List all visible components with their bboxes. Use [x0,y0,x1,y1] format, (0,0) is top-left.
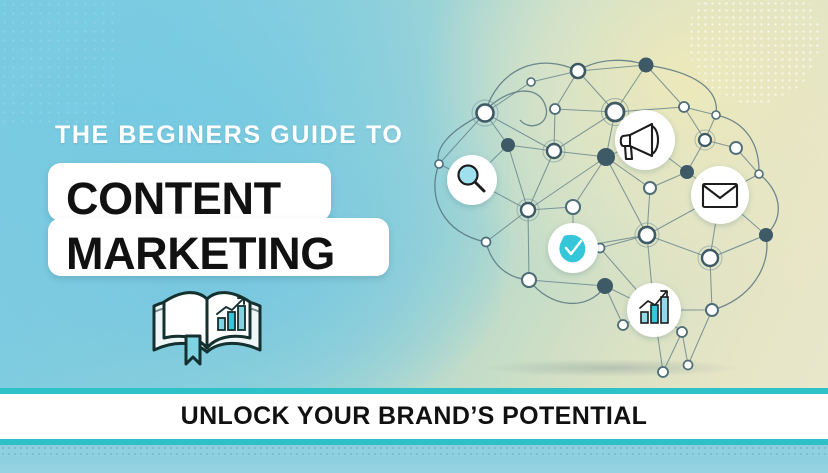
page-title-line-one: CONTENT [66,176,281,221]
headline-block: THE BEGINERS GUIDE TO CONTENT MARKETING [0,0,430,380]
envelope-glyph [703,184,737,207]
megaphone-icon[interactable] [615,110,675,170]
page-title-line-two: MARKETING [66,231,335,276]
banner-footer-halftone [0,445,828,459]
illustration-ground-shadow [484,359,740,377]
brain-network-svg [420,20,810,380]
banner-tagline: UNLOCK YOUR BRAND’S POTENTIAL [0,394,828,439]
target-check-glyph [559,235,585,262]
open-book-svg [142,276,272,368]
open-book-icon [142,276,272,368]
banner-footer-band [0,445,828,473]
poster-canvas: THE BEGINERS GUIDE TO CONTENT MARKETING [0,0,828,473]
brain-network-illustration [420,20,810,380]
kicker-text: THE BEGINERS GUIDE TO [55,123,403,148]
book-bookmark-ribbon [186,336,200,364]
bottom-banner: UNLOCK YOUR BRAND’S POTENTIAL [0,380,828,473]
